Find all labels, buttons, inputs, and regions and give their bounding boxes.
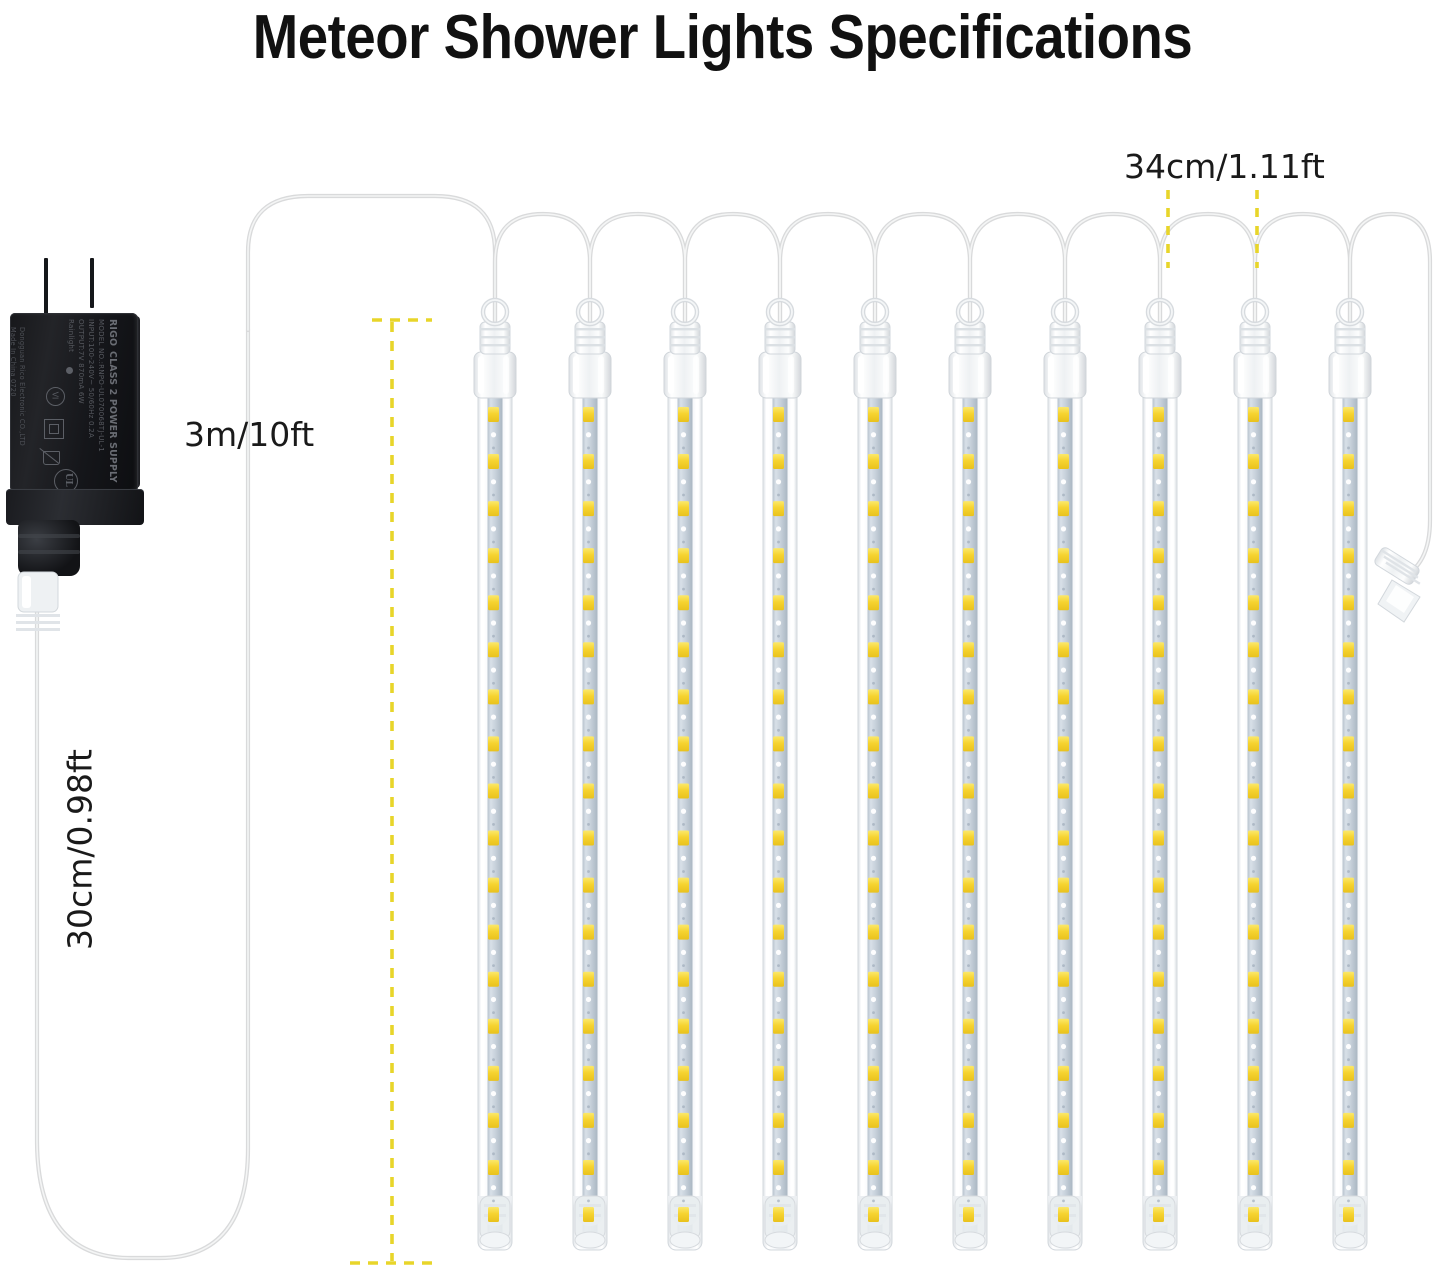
adapter-output-connector	[0, 0, 1445, 1271]
tube-length-label: 30cm/0.98ft	[61, 710, 100, 990]
cable-length-label: 3m/10ft	[184, 415, 314, 454]
tube-spacing-label: 34cm/1.11ft	[1124, 147, 1325, 186]
specification-diagram: Meteor Shower Lights Specifications	[0, 0, 1445, 1271]
